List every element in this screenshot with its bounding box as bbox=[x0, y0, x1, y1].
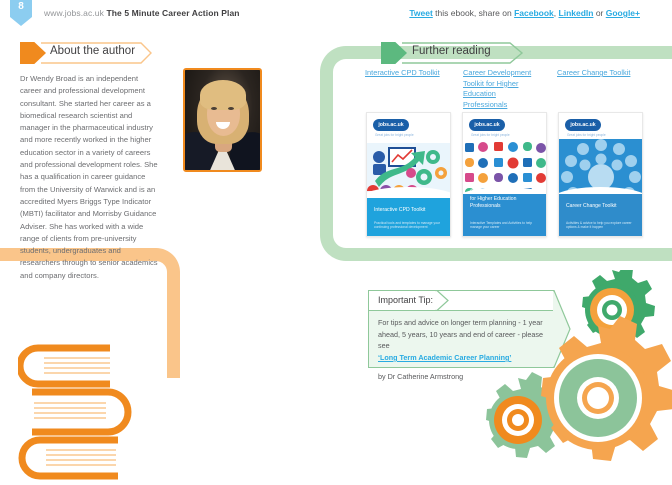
cover-1-band bbox=[367, 198, 450, 236]
author-photo bbox=[183, 68, 262, 172]
further-reading-links: Interactive CPD Toolkit Career Developme… bbox=[365, 68, 665, 104]
tip-chevron-icon bbox=[435, 290, 449, 311]
book-stack-svg bbox=[18, 340, 168, 480]
cover-career-development-toolkit[interactable]: jobs.ac.uk Great jobs for bright people … bbox=[462, 112, 547, 237]
about-the-author-heading: About the author bbox=[50, 45, 135, 57]
cover-3-title: Career Change Toolkit bbox=[566, 203, 636, 210]
share-bar: Tweet this ebook, share on Facebook, Lin… bbox=[409, 8, 640, 18]
book-stack-icon bbox=[18, 340, 168, 480]
link-career-change-toolkit[interactable]: Career Change Toolkit bbox=[557, 68, 645, 79]
about-the-author-banner: About the author bbox=[20, 42, 150, 64]
share-text-middle: this ebook, share on bbox=[433, 8, 514, 18]
photo-hair-top bbox=[200, 80, 246, 110]
further-reading-heading: Further reading bbox=[412, 45, 491, 57]
photo-eye-left bbox=[211, 107, 217, 110]
cover-1-subtitle: Practical tools and templates to manage … bbox=[374, 221, 444, 230]
googleplus-link[interactable]: Google+ bbox=[606, 8, 640, 18]
cover-2-title: Career Development Toolkit for Higher Ed… bbox=[470, 189, 540, 210]
cover-1-title: Interactive CPD Toolkit bbox=[374, 207, 444, 214]
cover-3-tagline: Great jobs for bright people bbox=[567, 133, 606, 137]
cover-career-change-toolkit[interactable]: jobs.ac.uk Great jobs for bright people … bbox=[558, 112, 643, 237]
cover-2-subtitle: Interactive Templates and Activities to … bbox=[470, 221, 540, 230]
page-header: www.jobs.ac.uk The 5 Minute Career Actio… bbox=[0, 8, 672, 28]
header-site-url: www.jobs.ac.uk bbox=[44, 8, 106, 18]
further-reading-banner: Further reading bbox=[381, 42, 531, 64]
link-career-development-toolkit[interactable]: Career Development Toolkit for Higher Ed… bbox=[463, 68, 541, 111]
important-tip-heading: Important Tip: bbox=[378, 295, 433, 305]
photo-eye-right bbox=[228, 107, 234, 110]
about-the-author-body: Dr Wendy Broad is an independent career … bbox=[20, 73, 160, 282]
cover-2-logo: jobs.ac.uk bbox=[469, 119, 505, 131]
tweet-link[interactable]: Tweet bbox=[409, 8, 432, 18]
cover-2-tagline: Great jobs for bright people bbox=[471, 133, 510, 137]
cover-1-tagline: Great jobs for bright people bbox=[375, 133, 414, 137]
header-breadcrumb: www.jobs.ac.uk The 5 Minute Career Actio… bbox=[44, 8, 240, 18]
cover-3-subtitle: Activities & advice to help you explore … bbox=[566, 221, 636, 230]
gear-orange-large bbox=[541, 316, 672, 461]
gears-svg bbox=[480, 270, 672, 480]
cover-1-logo: jobs.ac.uk bbox=[373, 119, 409, 131]
facebook-link[interactable]: Facebook bbox=[514, 8, 554, 18]
cover-3-logo: jobs.ac.uk bbox=[565, 119, 601, 131]
gears-decoration bbox=[480, 270, 672, 480]
share-separator-2: or bbox=[593, 8, 605, 18]
cover-interactive-cpd-toolkit[interactable]: jobs.ac.uk Great jobs for bright people … bbox=[366, 112, 451, 237]
further-reading-section: Further reading bbox=[381, 42, 671, 64]
about-the-author-section: About the author Dr Wendy Broad is an in… bbox=[20, 42, 170, 282]
link-interactive-cpd-toolkit[interactable]: Interactive CPD Toolkit bbox=[365, 68, 445, 79]
linkedin-link[interactable]: LinkedIn bbox=[559, 8, 594, 18]
header-ebook-title: The 5 Minute Career Action Plan bbox=[106, 8, 239, 18]
